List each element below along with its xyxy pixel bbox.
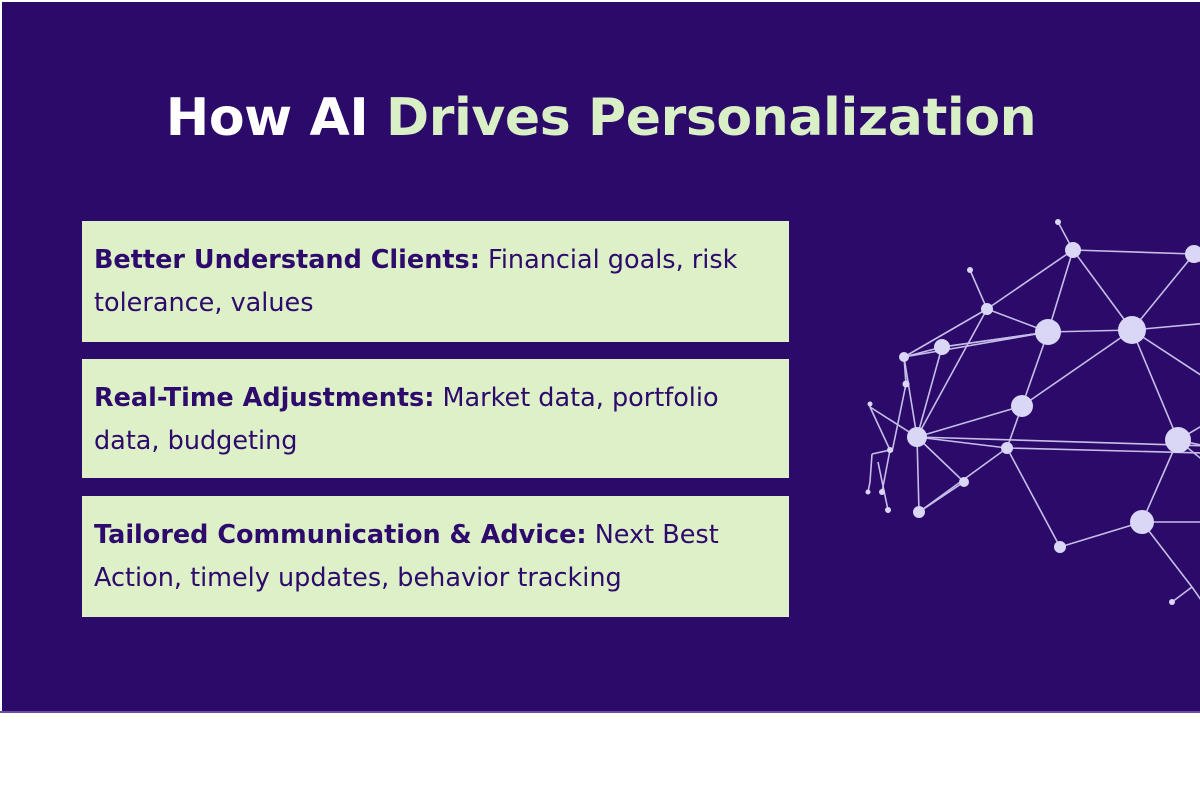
card-lead: Tailored Communication & Advice: [94,520,587,550]
card-lead: Real-Time Adjustments: [94,383,434,413]
list-item: Tailored Communication & Advice: Next Be… [82,496,789,617]
page-title: How AI Drives Personalization [2,86,1200,150]
ai-network-brain-graphic [842,192,1200,632]
card-lead: Better Understand Clients: [94,245,480,275]
purple-panel: How AI Drives Personalization Better Und… [2,2,1200,713]
title-part-green: Drives Personalization [386,88,1036,148]
footer: www.investipal.co [0,713,1200,800]
title-part-white: How AI [166,88,386,148]
list-item: Real-Time Adjustments: Market data, port… [82,359,789,478]
slide-canvas: How AI Drives Personalization Better Und… [0,0,1200,800]
list-item: Better Understand Clients: Financial goa… [82,221,789,342]
